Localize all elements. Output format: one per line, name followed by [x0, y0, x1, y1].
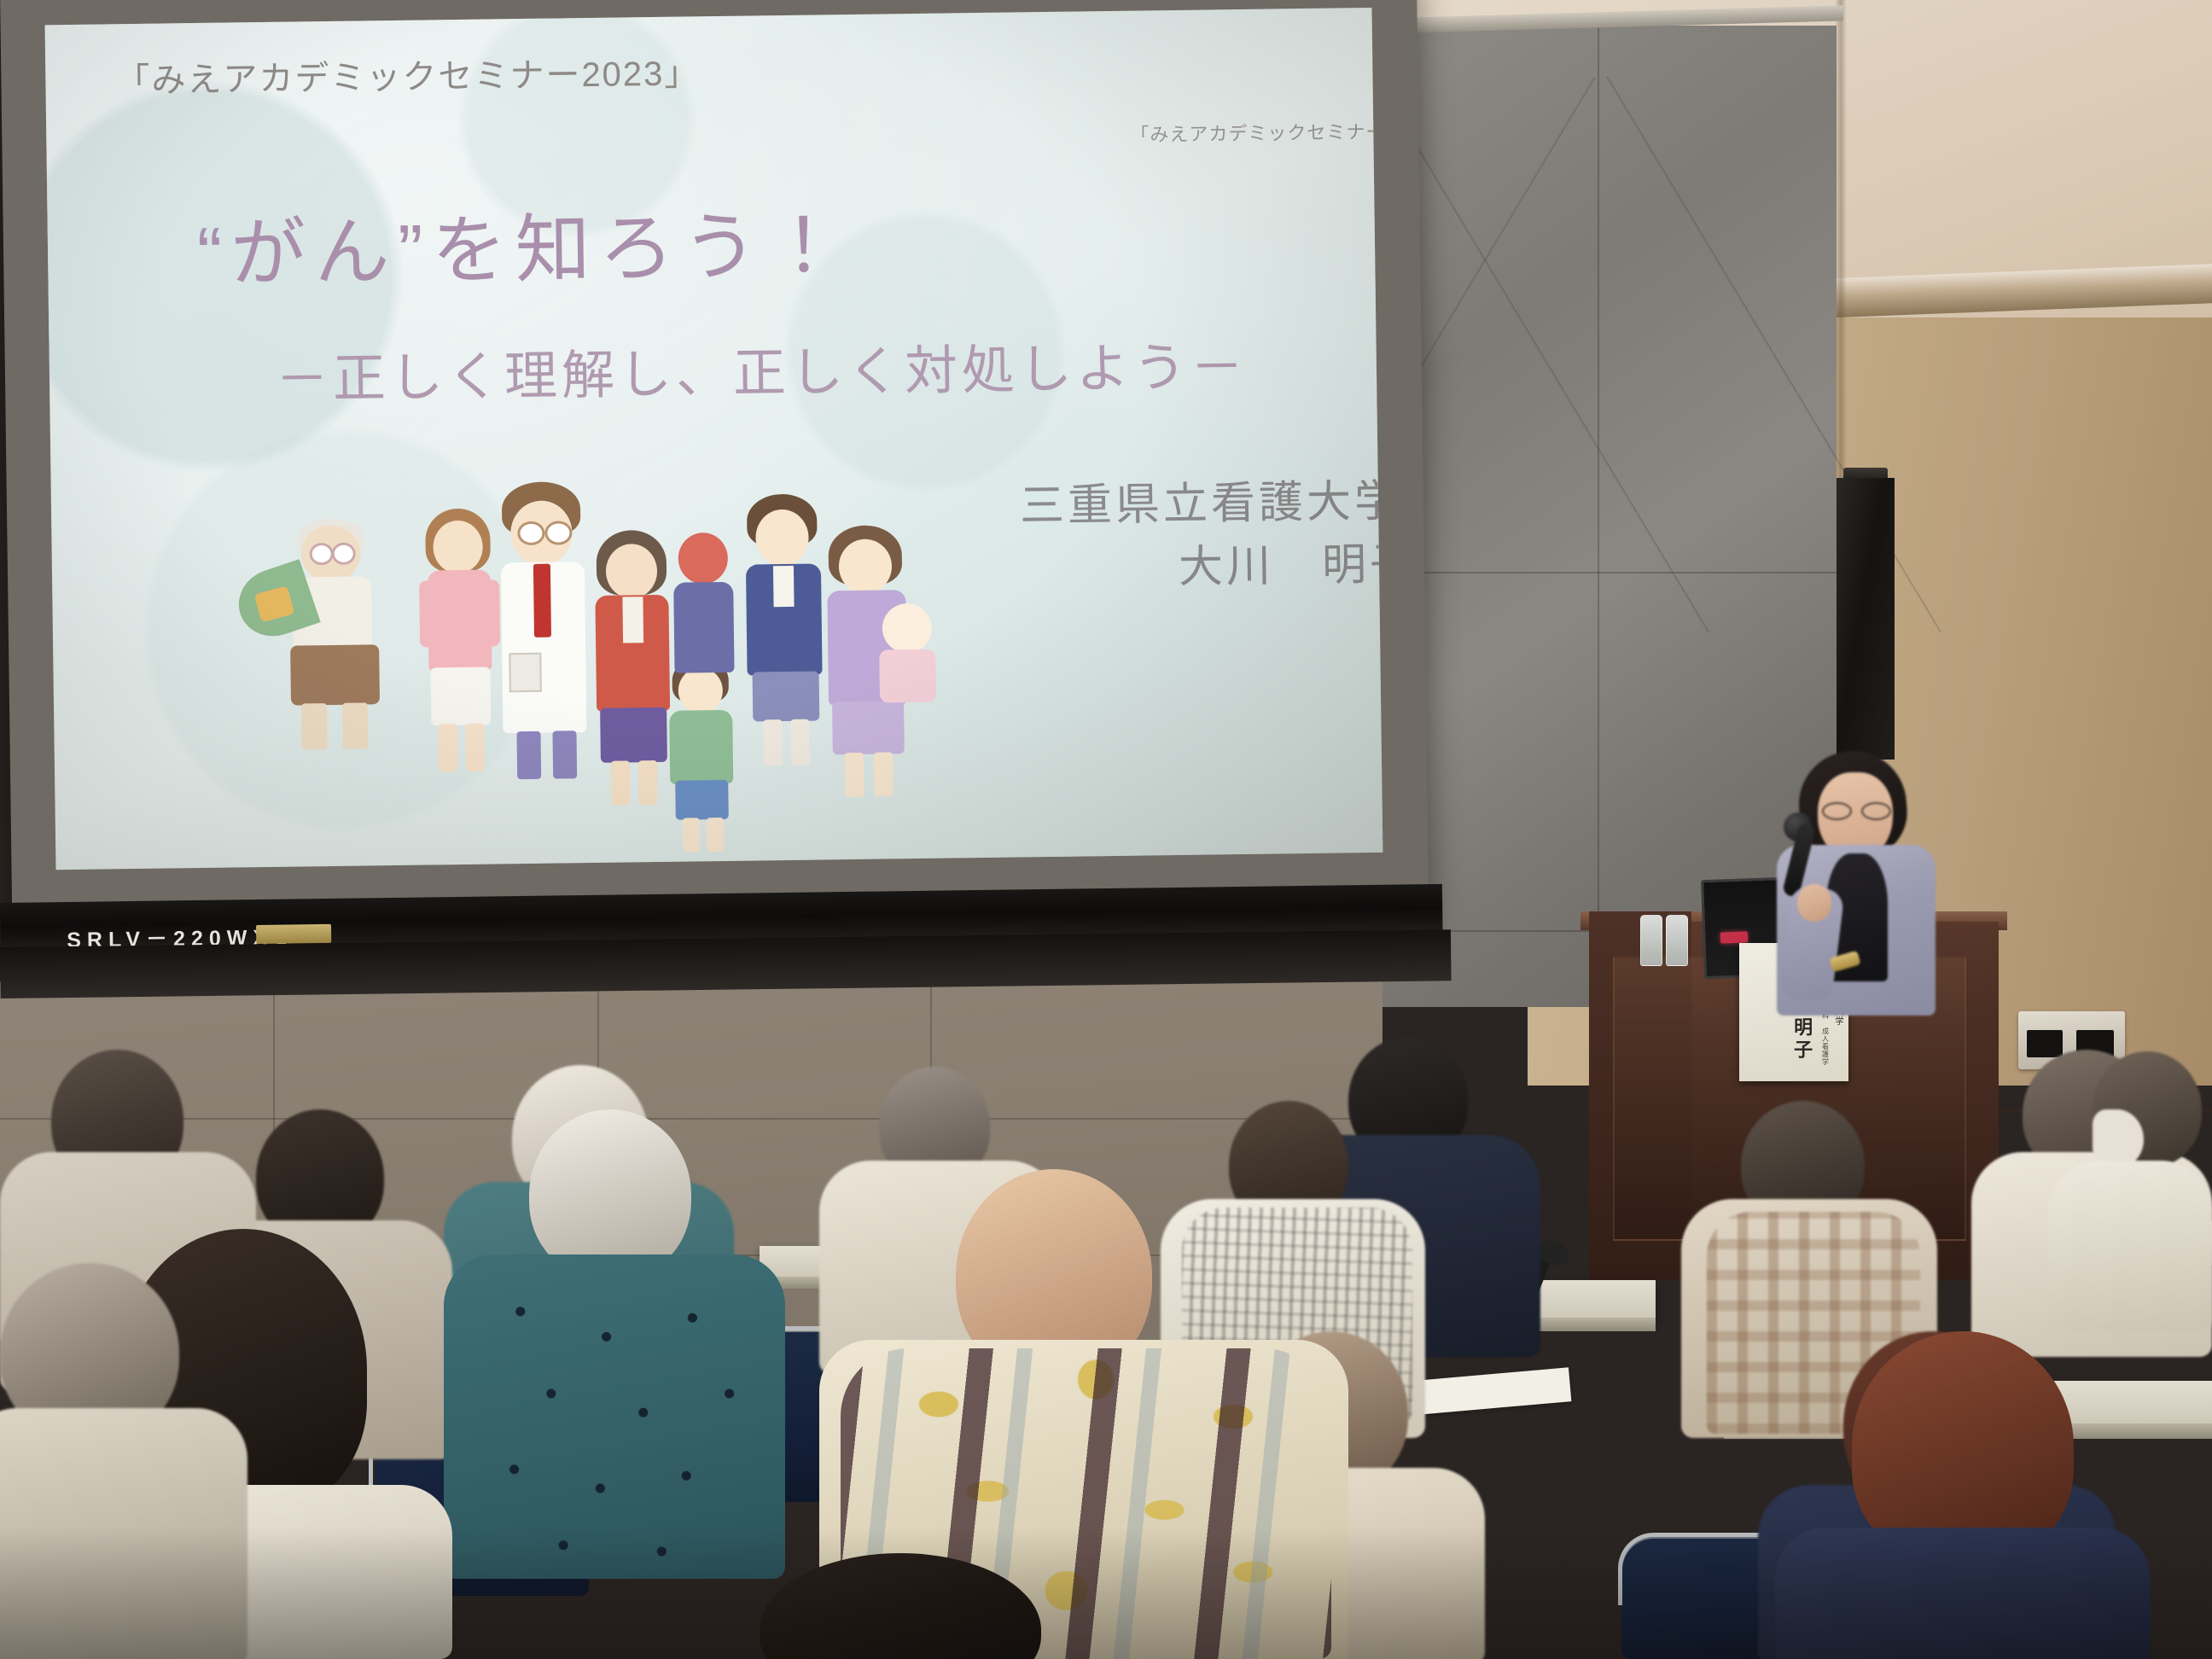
handout-paper[interactable]: [1416, 1367, 1572, 1415]
slide-title: “がん”を知ろう！: [196, 185, 850, 302]
projection-screen: 「みえアカデミックセミナー2023」 「みえアカデミックセミナー2023」 “が…: [0, 0, 1429, 935]
slide-header-right: 「みえアカデミックセミナー2023」: [1130, 116, 1382, 148]
slide-page-number: 1: [1380, 818, 1383, 845]
pa-speaker: [1837, 478, 1895, 760]
slide-presenter-name: 大川 明子: [1178, 527, 1382, 595]
slide-header-left: 「みえアカデミックセミナー2023」: [115, 45, 701, 102]
speaker-hand: [1797, 884, 1831, 922]
projected-slide: 「みえアカデミックセミナー2023」 「みえアカデミックセミナー2023」 “が…: [45, 8, 1383, 870]
face-mask-icon: [2093, 1109, 2144, 1167]
screen-brand-badge: [256, 924, 331, 944]
stone-wall-panels: [1365, 26, 1837, 1007]
glasses-icon: [1822, 802, 1890, 818]
slide-subtitle: －正しく理解し、正しく対処しよう－: [275, 323, 1248, 413]
seminar-photo-scene: 「みえアカデミックセミナー2023」 「みえアカデミックセミナー2023」 “が…: [0, 0, 2212, 1659]
family-illustration: [282, 485, 1097, 853]
laptop-indicator-light: [1720, 931, 1748, 943]
water-bottle[interactable]: [1666, 915, 1688, 966]
attendee-dot-pattern: [465, 1267, 772, 1583]
water-bottle[interactable]: [1640, 915, 1662, 966]
